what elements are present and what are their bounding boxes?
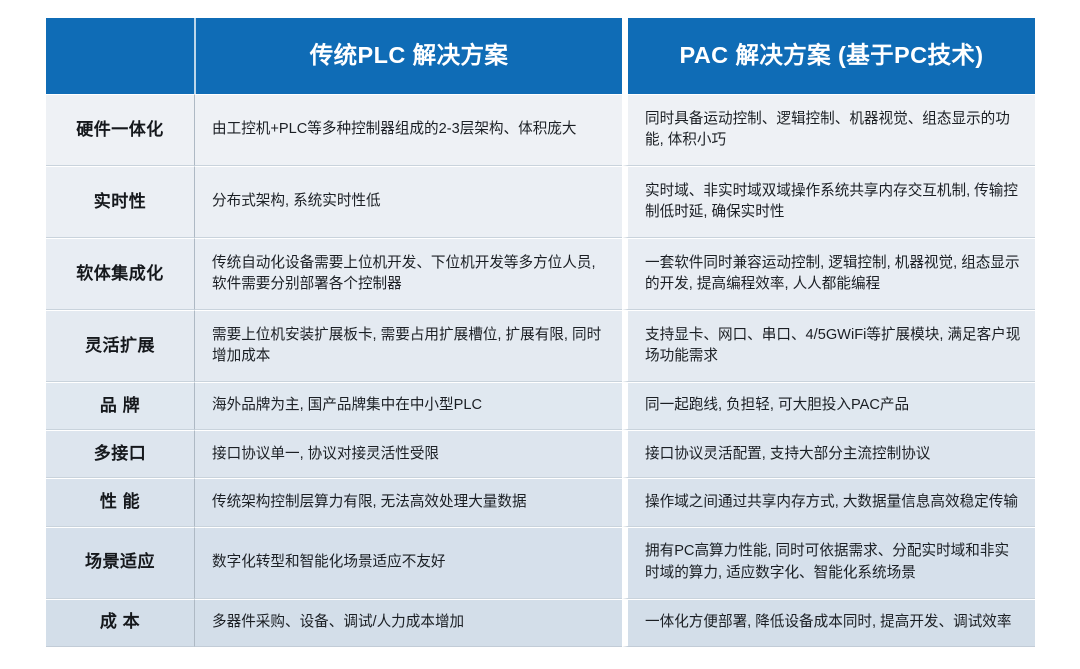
row-label-software-integration: 软体集成化 xyxy=(46,238,194,310)
row-pac-performance: 操作域之间通过共享内存方式, 大数据量信息高效稳定传输 xyxy=(622,478,1035,526)
row-pac-realtime: 实时域、非实时域双域操作系统共享内存交互机制, 传输控制低时延, 确保实时性 xyxy=(622,166,1035,238)
row-pac-flexible-expansion: 支持显卡、网口、串口、4/5GWiFi等扩展模块, 满足客户现场功能需求 xyxy=(622,310,1035,382)
row-pac-multi-interface: 接口协议灵活配置, 支持大部分主流控制协议 xyxy=(622,430,1035,478)
slide-page: 传统PLC 解决方案 PAC 解决方案 (基于PC技术) 硬件一体化 由工控机+… xyxy=(0,0,1080,669)
table-row: 性 能 传统架构控制层算力有限, 无法高效处理大量数据 操作域之间通过共享内存方… xyxy=(46,478,1035,526)
header-corner-cell xyxy=(46,18,194,94)
table-row: 成 本 多器件采购、设备、调试/人力成本增加 一体化方便部署, 降低设备成本同时… xyxy=(46,599,1035,647)
table-header: 传统PLC 解决方案 PAC 解决方案 (基于PC技术) xyxy=(46,18,1035,94)
row-plc-software-integration: 传统自动化设备需要上位机开发、下位机开发等多方位人员, 软件需要分别部署各个控制… xyxy=(194,238,622,310)
row-label-hardware-integration: 硬件一体化 xyxy=(46,94,194,166)
table-row: 硬件一体化 由工控机+PLC等多种控制器组成的2-3层架构、体积庞大 同时具备运… xyxy=(46,94,1035,166)
comparison-table: 传统PLC 解决方案 PAC 解决方案 (基于PC技术) 硬件一体化 由工控机+… xyxy=(46,18,1035,647)
row-plc-realtime: 分布式架构, 系统实时性低 xyxy=(194,166,622,238)
header-row: 传统PLC 解决方案 PAC 解决方案 (基于PC技术) xyxy=(46,18,1035,94)
row-plc-cost: 多器件采购、设备、调试/人力成本增加 xyxy=(194,599,622,647)
row-plc-performance: 传统架构控制层算力有限, 无法高效处理大量数据 xyxy=(194,478,622,526)
row-label-realtime: 实时性 xyxy=(46,166,194,238)
row-plc-flexible-expansion: 需要上位机安装扩展板卡, 需要占用扩展槽位, 扩展有限, 同时增加成本 xyxy=(194,310,622,382)
table-row: 场景适应 数字化转型和智能化场景适应不友好 拥有PC高算力性能, 同时可依据需求… xyxy=(46,527,1035,599)
row-label-performance: 性 能 xyxy=(46,478,194,526)
table-body: 硬件一体化 由工控机+PLC等多种控制器组成的2-3层架构、体积庞大 同时具备运… xyxy=(46,94,1035,647)
row-label-cost: 成 本 xyxy=(46,599,194,647)
table-row: 软体集成化 传统自动化设备需要上位机开发、下位机开发等多方位人员, 软件需要分别… xyxy=(46,238,1035,310)
row-plc-scenario-adaptation: 数字化转型和智能化场景适应不友好 xyxy=(194,527,622,599)
header-pac-solution: PAC 解决方案 (基于PC技术) xyxy=(622,18,1035,94)
row-plc-multi-interface: 接口协议单一, 协议对接灵活性受限 xyxy=(194,430,622,478)
row-label-scenario-adaptation: 场景适应 xyxy=(46,527,194,599)
row-plc-brand: 海外品牌为主, 国产品牌集中在中小型PLC xyxy=(194,382,622,430)
row-pac-scenario-adaptation: 拥有PC高算力性能, 同时可依据需求、分配实时域和非实时域的算力, 适应数字化、… xyxy=(622,527,1035,599)
row-pac-brand: 同一起跑线, 负担轻, 可大胆投入PAC产品 xyxy=(622,382,1035,430)
row-label-multi-interface: 多接口 xyxy=(46,430,194,478)
table-row: 多接口 接口协议单一, 协议对接灵活性受限 接口协议灵活配置, 支持大部分主流控… xyxy=(46,430,1035,478)
table-row: 品 牌 海外品牌为主, 国产品牌集中在中小型PLC 同一起跑线, 负担轻, 可大… xyxy=(46,382,1035,430)
table-row: 实时性 分布式架构, 系统实时性低 实时域、非实时域双域操作系统共享内存交互机制… xyxy=(46,166,1035,238)
row-pac-hardware-integration: 同时具备运动控制、逻辑控制、机器视觉、组态显示的功能, 体积小巧 xyxy=(622,94,1035,166)
row-plc-hardware-integration: 由工控机+PLC等多种控制器组成的2-3层架构、体积庞大 xyxy=(194,94,622,166)
row-pac-software-integration: 一套软件同时兼容运动控制, 逻辑控制, 机器视觉, 组态显示的开发, 提高编程效… xyxy=(622,238,1035,310)
row-label-flexible-expansion: 灵活扩展 xyxy=(46,310,194,382)
table-row: 灵活扩展 需要上位机安装扩展板卡, 需要占用扩展槽位, 扩展有限, 同时增加成本… xyxy=(46,310,1035,382)
row-pac-cost: 一体化方便部署, 降低设备成本同时, 提高开发、调试效率 xyxy=(622,599,1035,647)
header-traditional-plc: 传统PLC 解决方案 xyxy=(194,18,622,94)
row-label-brand: 品 牌 xyxy=(46,382,194,430)
